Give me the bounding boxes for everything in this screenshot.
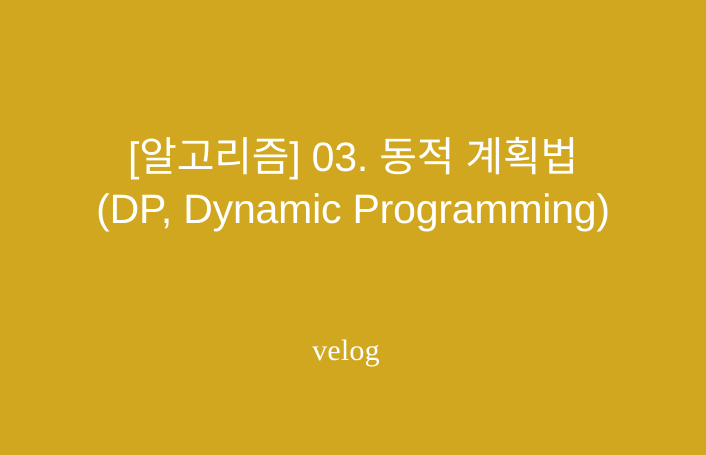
title-line-2: (DP, Dynamic Programming) [28,183,678,235]
velog-brand-label: velog [312,332,380,370]
page-title: [알고리즘] 03. 동적 계획법 (DP, Dynamic Programmi… [0,131,706,235]
velog-brand-logo: velog [0,332,706,370]
post-thumbnail-card: [알고리즘] 03. 동적 계획법 (DP, Dynamic Programmi… [0,0,706,455]
title-line-1: [알고리즘] 03. 동적 계획법 [28,131,678,183]
